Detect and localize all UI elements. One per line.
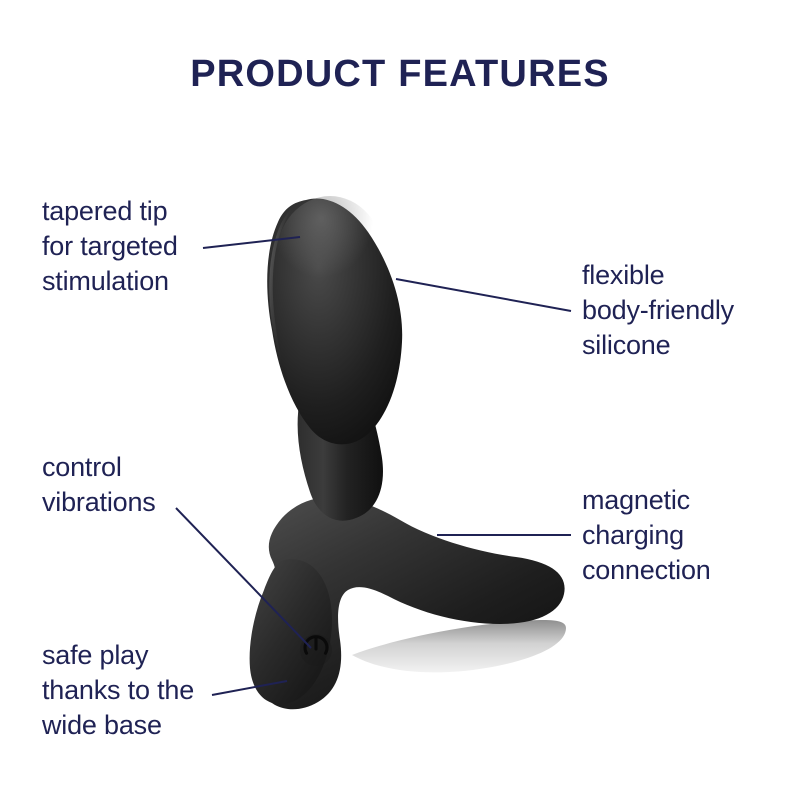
- callout-line: safe play: [42, 638, 194, 673]
- callout-flexible-silicone: flexible body-friendly silicone: [582, 258, 734, 363]
- callout-line: control: [42, 450, 156, 485]
- power-icon[interactable]: [300, 634, 332, 666]
- callout-line: vibrations: [42, 485, 156, 520]
- callout-line: silicone: [582, 328, 734, 363]
- callout-line: magnetic: [582, 483, 711, 518]
- callout-line: body-friendly: [582, 293, 734, 328]
- callout-magnetic-charging: magnetic charging connection: [582, 483, 711, 588]
- product-head-gloss: [276, 196, 384, 320]
- callout-tapered-tip: tapered tip for targeted stimulation: [42, 194, 178, 299]
- callout-line: flexible: [582, 258, 734, 293]
- callout-line: charging: [582, 518, 711, 553]
- leader-line-flexible-silicone: [396, 279, 571, 311]
- callout-line: thanks to the: [42, 673, 194, 708]
- callout-line: tapered tip: [42, 194, 178, 229]
- callout-line: connection: [582, 553, 711, 588]
- product-features-infographic: PRODUCT FEATURES: [0, 0, 800, 800]
- callout-line: stimulation: [42, 264, 178, 299]
- callout-line: wide base: [42, 708, 194, 743]
- callout-line: for targeted: [42, 229, 178, 264]
- base-shadow: [352, 620, 566, 672]
- callout-control-vibrations: control vibrations: [42, 450, 156, 520]
- callout-wide-base: safe play thanks to the wide base: [42, 638, 194, 743]
